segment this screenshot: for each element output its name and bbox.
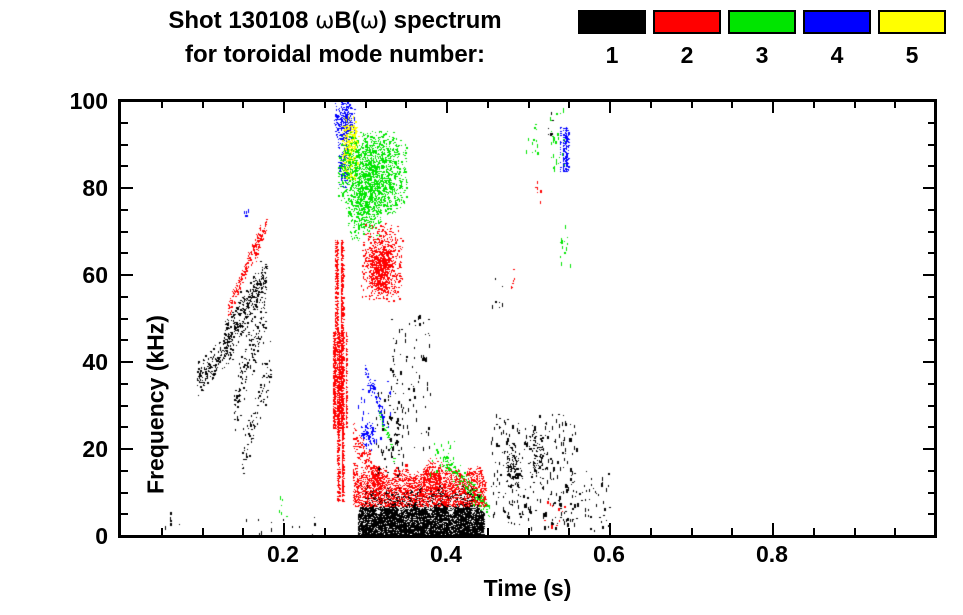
x-tick-1 <box>935 528 937 535</box>
x-tick-label-0.8: 0.8 <box>737 541 807 568</box>
x-tick-top-0.1 <box>202 101 204 108</box>
y-tick-50 <box>121 318 128 320</box>
y-tick-right-15 <box>928 470 935 472</box>
x-tick-0.8 <box>772 523 774 535</box>
y-tick-10 <box>121 492 128 494</box>
x-tick-top-1 <box>935 101 937 108</box>
y-tick-right-95 <box>928 122 935 124</box>
title-line-1: Shot 130108 ωB(ω) spectrum <box>100 4 570 38</box>
y-tick-25 <box>121 426 128 428</box>
x-tick-label-0.2: 0.2 <box>248 541 318 568</box>
legend-swatch-1 <box>578 10 646 34</box>
legend-label-1: 1 <box>578 40 646 70</box>
legend-label-2: 2 <box>653 40 721 70</box>
y-tick-right-0 <box>923 535 935 537</box>
x-tick-label-0.4: 0.4 <box>411 541 481 568</box>
x-tick-0.65 <box>650 528 652 535</box>
x-axis-title: Time (s) <box>120 575 935 602</box>
x-tick-top-0.25 <box>324 101 326 108</box>
x-tick-top-0.85 <box>813 101 815 108</box>
legend-swatch-3 <box>728 10 796 34</box>
y-tick-right-5 <box>928 513 935 515</box>
x-tick-top-0.4 <box>446 101 448 113</box>
y-tick-75 <box>121 209 128 211</box>
y-tick-55 <box>121 296 128 298</box>
legend-item-2: 2 <box>653 10 721 70</box>
x-axis-tick-labels: 0.20.40.60.8 <box>120 541 935 573</box>
y-tick-label-20: 20 <box>50 436 108 463</box>
y-tick-90 <box>121 144 128 146</box>
x-tick-0.95 <box>894 528 896 535</box>
x-tick-0.5 <box>528 528 530 535</box>
x-tick-0.15 <box>242 528 244 535</box>
y-tick-85 <box>121 165 128 167</box>
omega-symbol-1: ω <box>315 8 334 34</box>
y-tick-right-65 <box>928 252 935 254</box>
y-axis-title: Frequency (kHz) <box>143 285 170 525</box>
x-tick-top-0.2 <box>283 101 285 113</box>
spectrogram-canvas <box>120 101 935 536</box>
y-tick-label-100: 100 <box>50 88 108 115</box>
x-tick-0.7 <box>691 528 693 535</box>
x-tick-0.6 <box>609 523 611 535</box>
x-tick-top-0.45 <box>487 101 489 108</box>
legend-swatch-4 <box>803 10 871 34</box>
y-tick-35 <box>121 383 128 385</box>
x-tick-0.2 <box>283 523 285 535</box>
y-tick-right-90 <box>928 144 935 146</box>
x-tick-0.35 <box>405 528 407 535</box>
y-tick-right-10 <box>928 492 935 494</box>
x-tick-0.4 <box>446 523 448 535</box>
x-tick-0.1 <box>202 528 204 535</box>
x-tick-top-0.75 <box>731 101 733 108</box>
axis-bottom-line <box>120 535 937 538</box>
y-tick-5 <box>121 513 128 515</box>
mode-number-legend: 12345 <box>578 10 946 70</box>
title-line-2: for toroidal mode number: <box>100 38 570 72</box>
legend-item-1: 1 <box>578 10 646 70</box>
x-tick-top-0.55 <box>568 101 570 108</box>
y-tick-right-45 <box>928 339 935 341</box>
y-tick-70 <box>121 231 128 233</box>
y-tick-right-60 <box>923 274 935 276</box>
x-tick-top-0.5 <box>528 101 530 108</box>
y-tick-right-50 <box>928 318 935 320</box>
y-tick-label-0: 0 <box>50 523 108 550</box>
y-tick-label-40: 40 <box>50 349 108 376</box>
y-tick-label-80: 80 <box>50 175 108 202</box>
plot-area: Frequency (kHz) <box>120 101 935 536</box>
legend-item-3: 3 <box>728 10 796 70</box>
y-tick-right-30 <box>928 405 935 407</box>
omega-symbol-2: ω <box>360 8 379 34</box>
legend-label-4: 4 <box>803 40 871 70</box>
y-tick-right-20 <box>923 448 935 450</box>
y-tick-right-70 <box>928 231 935 233</box>
x-tick-label-0.6: 0.6 <box>574 541 644 568</box>
legend-item-4: 4 <box>803 10 871 70</box>
x-tick-0.9 <box>854 528 856 535</box>
y-tick-right-75 <box>928 209 935 211</box>
x-tick-0.05 <box>161 528 163 535</box>
y-tick-65 <box>121 252 128 254</box>
y-tick-80 <box>121 187 133 189</box>
title-b-text: B( <box>334 7 359 34</box>
x-tick-0.45 <box>487 528 489 535</box>
y-tick-0 <box>121 535 133 537</box>
y-tick-right-85 <box>928 165 935 167</box>
y-tick-right-40 <box>923 361 935 363</box>
x-tick-0.85 <box>813 528 815 535</box>
y-tick-20 <box>121 448 133 450</box>
x-tick-0.3 <box>365 528 367 535</box>
y-axis-tick-labels: 020406080100 <box>46 101 108 536</box>
legend-item-5: 5 <box>878 10 946 70</box>
x-tick-top-0.05 <box>161 101 163 108</box>
y-tick-95 <box>121 122 128 124</box>
title-shot-text: Shot 130108 <box>168 7 315 34</box>
y-tick-45 <box>121 339 128 341</box>
x-tick-0.75 <box>731 528 733 535</box>
y-tick-100 <box>121 100 133 102</box>
x-tick-top-0.8 <box>772 101 774 113</box>
spectrogram-figure: Shot 130108 ωB(ω) spectrum for toroidal … <box>0 0 963 615</box>
y-tick-right-100 <box>923 100 935 102</box>
y-tick-40 <box>121 361 133 363</box>
x-tick-top-0.15 <box>242 101 244 108</box>
legend-label-3: 3 <box>728 40 796 70</box>
x-tick-0.25 <box>324 528 326 535</box>
x-tick-top-0.9 <box>854 101 856 108</box>
x-tick-top-0.7 <box>691 101 693 108</box>
figure-title: Shot 130108 ωB(ω) spectrum for toroidal … <box>100 4 570 72</box>
x-tick-top-0.95 <box>894 101 896 108</box>
y-tick-60 <box>121 274 133 276</box>
x-tick-top-0.35 <box>405 101 407 108</box>
legend-swatch-2 <box>653 10 721 34</box>
y-tick-15 <box>121 470 128 472</box>
y-tick-right-80 <box>923 187 935 189</box>
x-tick-top-0.65 <box>650 101 652 108</box>
x-tick-0.55 <box>568 528 570 535</box>
legend-label-5: 5 <box>878 40 946 70</box>
legend-swatch-5 <box>878 10 946 34</box>
x-tick-top-0.6 <box>609 101 611 113</box>
y-tick-right-55 <box>928 296 935 298</box>
y-tick-label-60: 60 <box>50 262 108 289</box>
y-tick-right-25 <box>928 426 935 428</box>
x-tick-top-0.3 <box>365 101 367 108</box>
title-spectrum-text: ) spectrum <box>379 7 502 34</box>
y-tick-right-35 <box>928 383 935 385</box>
y-tick-30 <box>121 405 128 407</box>
